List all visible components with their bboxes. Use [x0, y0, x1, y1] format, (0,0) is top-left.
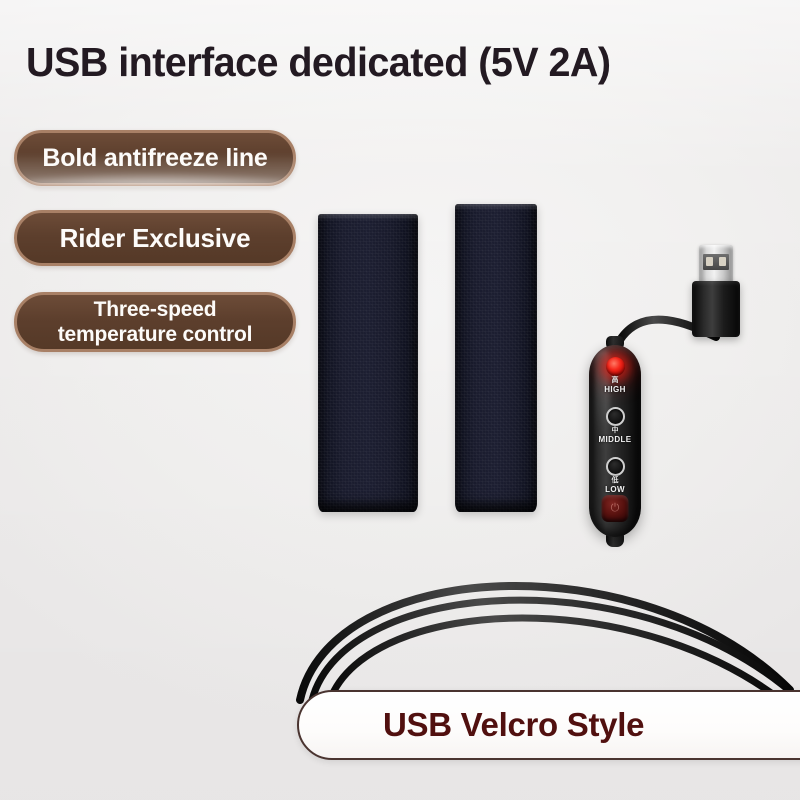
- power-button[interactable]: ⏻: [602, 495, 629, 522]
- low-label-cn: 低: [612, 477, 619, 485]
- right-heating-pad: [455, 204, 537, 512]
- three-speed-controller[interactable]: 高 HIGH 中 MIDDLE 低 LOW ⏻: [589, 345, 641, 537]
- low-label-en: LOW: [605, 485, 625, 494]
- high-label-cn: 高: [612, 377, 619, 385]
- usb-connector-housing: [692, 281, 740, 337]
- left-heating-pad: [318, 214, 418, 512]
- controller-level-middle[interactable]: 中 MIDDLE: [589, 407, 641, 444]
- usb-contact-pin: [706, 257, 713, 266]
- low-indicator-led: [606, 457, 625, 476]
- velcro-texture: [455, 204, 537, 512]
- cable-loop-middle: [312, 600, 800, 700]
- high-label-en: HIGH: [604, 385, 626, 394]
- usb-connector-metal-tip: [699, 245, 733, 283]
- middle-label-en: MIDDLE: [598, 435, 631, 444]
- style-banner-label: USB Velcro Style: [383, 706, 644, 744]
- style-banner: USB Velcro Style: [297, 690, 800, 760]
- pad-top-highlight: [318, 214, 418, 221]
- pad-top-highlight: [455, 204, 537, 211]
- controller-level-low[interactable]: 低 LOW: [589, 457, 641, 494]
- middle-label-cn: 中: [612, 427, 619, 435]
- usb-contact-pin: [719, 257, 726, 266]
- pad-bottom-shadow: [318, 498, 418, 512]
- velcro-texture: [318, 214, 418, 512]
- product-image-canvas: USB interface dedicated (5V 2A) Bold ant…: [0, 0, 800, 800]
- usb-connector-cavity: [703, 254, 729, 270]
- high-indicator-led: [606, 357, 625, 376]
- power-icon: ⏻: [602, 495, 629, 522]
- controller-level-high[interactable]: 高 HIGH: [589, 357, 641, 394]
- pad-bottom-shadow: [455, 498, 537, 512]
- middle-indicator-led: [606, 407, 625, 426]
